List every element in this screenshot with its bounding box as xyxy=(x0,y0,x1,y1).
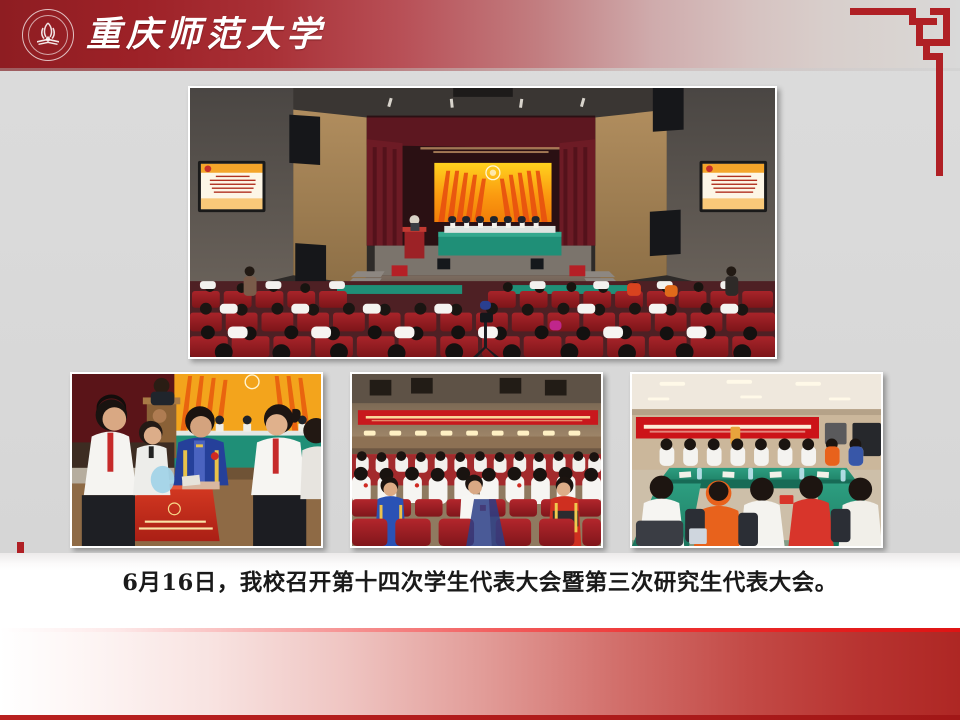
photo-delegates-standing xyxy=(350,372,603,548)
footer-gradient xyxy=(0,632,960,715)
slide-caption: 6月16日，我校召开第十四次学生代表大会暨第三次研究生代表大会。 xyxy=(0,565,960,597)
photo-conference-hall xyxy=(188,86,777,359)
photo-group-discussion xyxy=(630,372,883,548)
seal-emblem-glyph xyxy=(22,9,74,61)
photo-ballot-voting xyxy=(70,372,323,548)
photo-delegates-standing-scene xyxy=(352,374,601,546)
slide-canvas: 重庆师范大学 xyxy=(0,0,960,720)
photo-conference-hall-scene xyxy=(190,88,775,357)
footer-band xyxy=(0,628,960,720)
photo-group-discussion-scene xyxy=(632,374,881,546)
corner-bracket-top-right-icon xyxy=(850,8,950,176)
footer-base-line xyxy=(0,715,960,720)
university-seal-icon xyxy=(22,9,74,61)
photo-ballot-voting-scene xyxy=(72,374,321,546)
header-divider xyxy=(0,68,960,71)
page-title: 重庆师范大学 xyxy=(86,8,326,62)
